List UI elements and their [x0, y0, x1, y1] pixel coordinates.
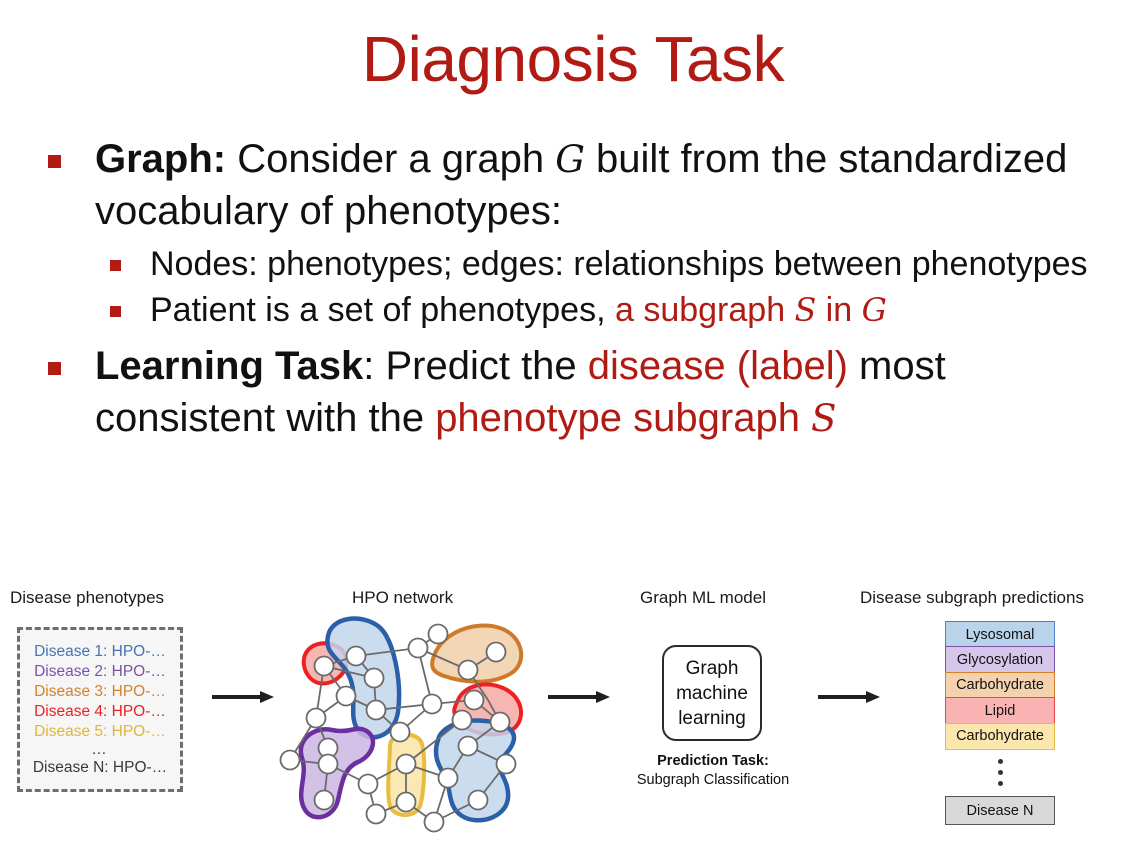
prediction-vertical-ellipsis — [945, 751, 1055, 793]
prediction-box: Lipid — [945, 697, 1055, 724]
bullet-learning-task: Learning Task: Predict the disease (labe… — [42, 340, 1102, 444]
bullet-learning-text-a: : Predict the — [363, 344, 588, 388]
bullet-patient-text: Patient is a set of phenotypes, — [150, 291, 615, 329]
bullet-nodes-edges-label: Nodes: phenotypes; edges: relationships … — [150, 245, 1088, 283]
model-line-2: machine — [676, 681, 748, 706]
math-var-g: G — [555, 137, 585, 181]
prediction-box: Glycosylation — [945, 646, 1055, 673]
bullet-sub-list: Nodes: phenotypes; edges: relationships … — [100, 241, 1102, 334]
disease-list-ellipsis: … — [20, 742, 180, 758]
disease-list-item: Disease 3: HPO-… — [20, 682, 180, 702]
bullet-graph-lead: Graph: — [95, 137, 226, 181]
model-line-3: learning — [678, 706, 746, 731]
bullet-list: Graph: Consider a graph G built from the… — [42, 133, 1102, 446]
bullet-graph-text-a: Consider a graph — [226, 137, 555, 181]
bullet-graph: Graph: Consider a graph G built from the… — [42, 133, 1102, 237]
prediction-task-caption: Prediction Task: Subgraph Classification — [620, 752, 806, 790]
bullet-square-icon — [110, 306, 121, 317]
bullet-square-icon — [48, 155, 61, 168]
bullet-square-icon — [110, 260, 121, 271]
prediction-box: Carbohydrate — [945, 723, 1055, 750]
figure-label-disease-phenotypes: Disease phenotypes — [10, 588, 164, 608]
math-var-s: S — [811, 396, 836, 440]
hpo-network-graph — [262, 612, 552, 842]
figure-label-graph-ml-model: Graph ML model — [640, 588, 766, 608]
arrow-right-icon — [548, 690, 610, 704]
prediction-box: Carbohydrate — [945, 672, 1055, 699]
prediction-task-subtext: Subgraph Classification — [620, 771, 806, 790]
prediction-box: Disease N — [945, 796, 1055, 825]
math-var-g: G — [862, 293, 887, 329]
figure-label-disease-subgraph-predictions: Disease subgraph predictions — [860, 588, 1084, 608]
model-line-1: Graph — [686, 656, 739, 681]
disease-list-item: Disease 1: HPO-… — [20, 642, 180, 662]
arrow-right-icon — [212, 690, 274, 704]
bullet-patient-red-a: a subgraph — [615, 291, 795, 329]
prediction-box: Lysosomal — [945, 621, 1055, 648]
disease-list-item: Disease 4: HPO-… — [20, 702, 180, 722]
bullet-square-icon — [48, 362, 61, 375]
bullet-learning-red-b: phenotype subgraph — [435, 396, 811, 440]
bullet-learning-lead: Learning Task — [95, 344, 363, 388]
bullet-learning-red-a: disease (label) — [588, 344, 848, 388]
disease-list-item: Disease N: HPO-… — [20, 758, 180, 778]
prediction-stack: LysosomalGlycosylationCarbohydrateLipidC… — [945, 621, 1055, 823]
bullet-patient-subgraph: Patient is a set of phenotypes, a subgra… — [100, 287, 1102, 334]
bullet-patient-red-b: in — [816, 291, 861, 329]
pipeline-figure: Disease phenotypes HPO network Graph ML … — [0, 588, 1146, 852]
prediction-task-heading: Prediction Task: — [620, 752, 806, 771]
arrow-right-icon — [818, 690, 880, 704]
disease-phenotypes-box: Disease 1: HPO-…Disease 2: HPO-…Disease … — [17, 627, 183, 792]
disease-list-item: Disease 5: HPO-… — [20, 722, 180, 742]
bullet-nodes-edges: Nodes: phenotypes; edges: relationships … — [100, 241, 1102, 287]
disease-list-item: Disease 2: HPO-… — [20, 662, 180, 682]
math-var-s: S — [795, 293, 817, 329]
graph-ml-model-box: Graph machine learning — [662, 645, 762, 741]
blob-purple-bottom-left — [301, 729, 373, 817]
figure-label-hpo-network: HPO network — [352, 588, 453, 608]
page-title: Diagnosis Task — [0, 26, 1146, 93]
